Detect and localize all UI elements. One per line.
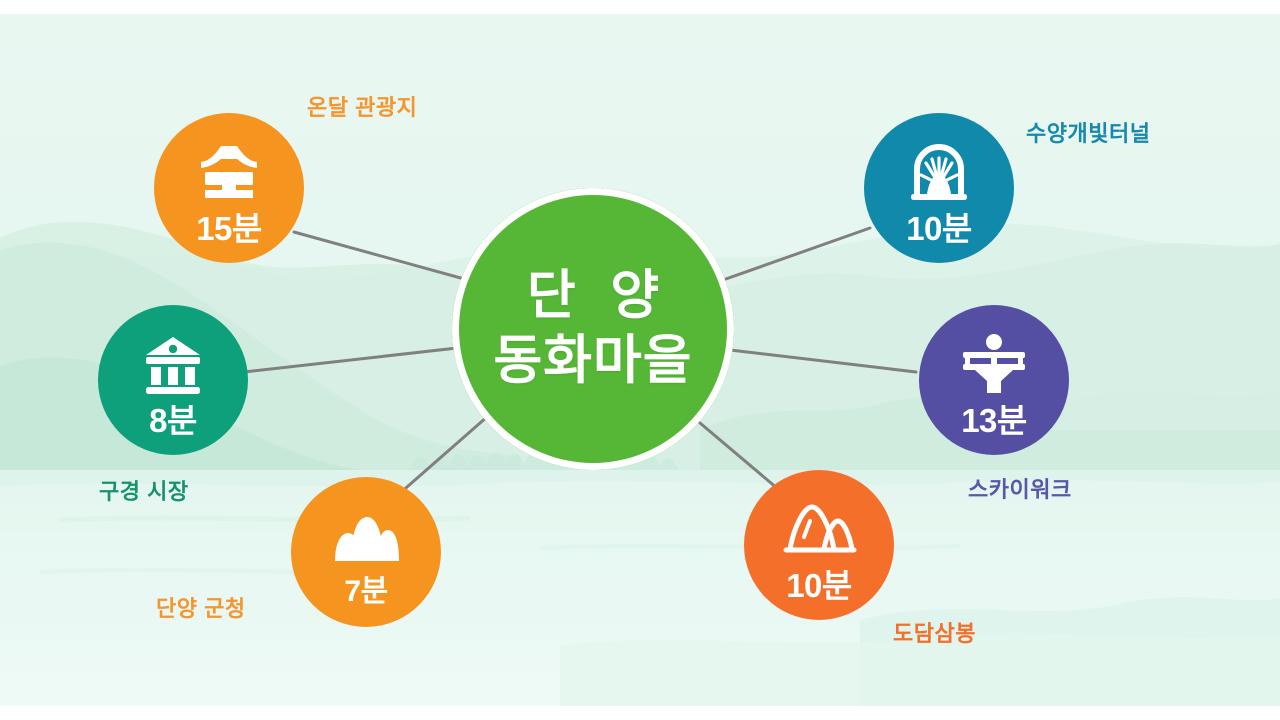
connector-skywalk [730, 350, 916, 372]
caption-county: 단양 군청 [156, 591, 246, 623]
market-building-icon [138, 330, 208, 398]
node-skywalk[interactable]: 13분 [919, 305, 1069, 455]
three-hills-icon [327, 503, 405, 571]
hub-label-line1: 단 양 [493, 264, 692, 329]
node-county-time: 7분 [344, 577, 387, 607]
skywalk-icon [957, 330, 1031, 398]
connector-dodam [700, 423, 784, 494]
node-ondal-tourist-site[interactable]: 15분 [154, 113, 304, 263]
mountain-peaks-icon [780, 495, 858, 563]
node-market-time: 8분 [149, 404, 197, 437]
node-dodamsambong[interactable]: 10분 [744, 470, 894, 620]
connector-tunnel [723, 228, 870, 280]
korean-gate-icon [191, 138, 267, 206]
node-skywalk-time: 13분 [961, 404, 1027, 437]
node-ondal-time: 15분 [196, 212, 262, 245]
node-suyanggae-light-tunnel[interactable]: 10분 [864, 113, 1014, 263]
infographic-canvas: 단 양 동화마을 15분 온달 관광지 [0, 0, 1280, 720]
caption-ondal: 온달 관광지 [307, 90, 417, 122]
node-danyang-county-office[interactable]: 7분 [291, 477, 441, 627]
node-dodam-time: 10분 [786, 569, 852, 602]
hub-label-line2: 동화마을 [493, 329, 692, 394]
connector-county [399, 409, 496, 494]
node-tunnel-time: 10분 [906, 212, 972, 245]
hub-node-danyang-fairytale-village[interactable]: 단 양 동화마을 [452, 188, 734, 470]
hub-label: 단 양 동화마을 [493, 264, 692, 393]
caption-skywalk: 스카이워크 [968, 472, 1072, 504]
connector-market [244, 348, 457, 372]
node-gugyeong-market[interactable]: 8분 [98, 305, 248, 455]
caption-tunnel: 수양개빛터널 [1026, 116, 1150, 148]
caption-market: 구경 시장 [99, 474, 189, 506]
light-tunnel-icon [904, 138, 974, 206]
caption-dodamsambong: 도담삼봉 [893, 616, 976, 648]
